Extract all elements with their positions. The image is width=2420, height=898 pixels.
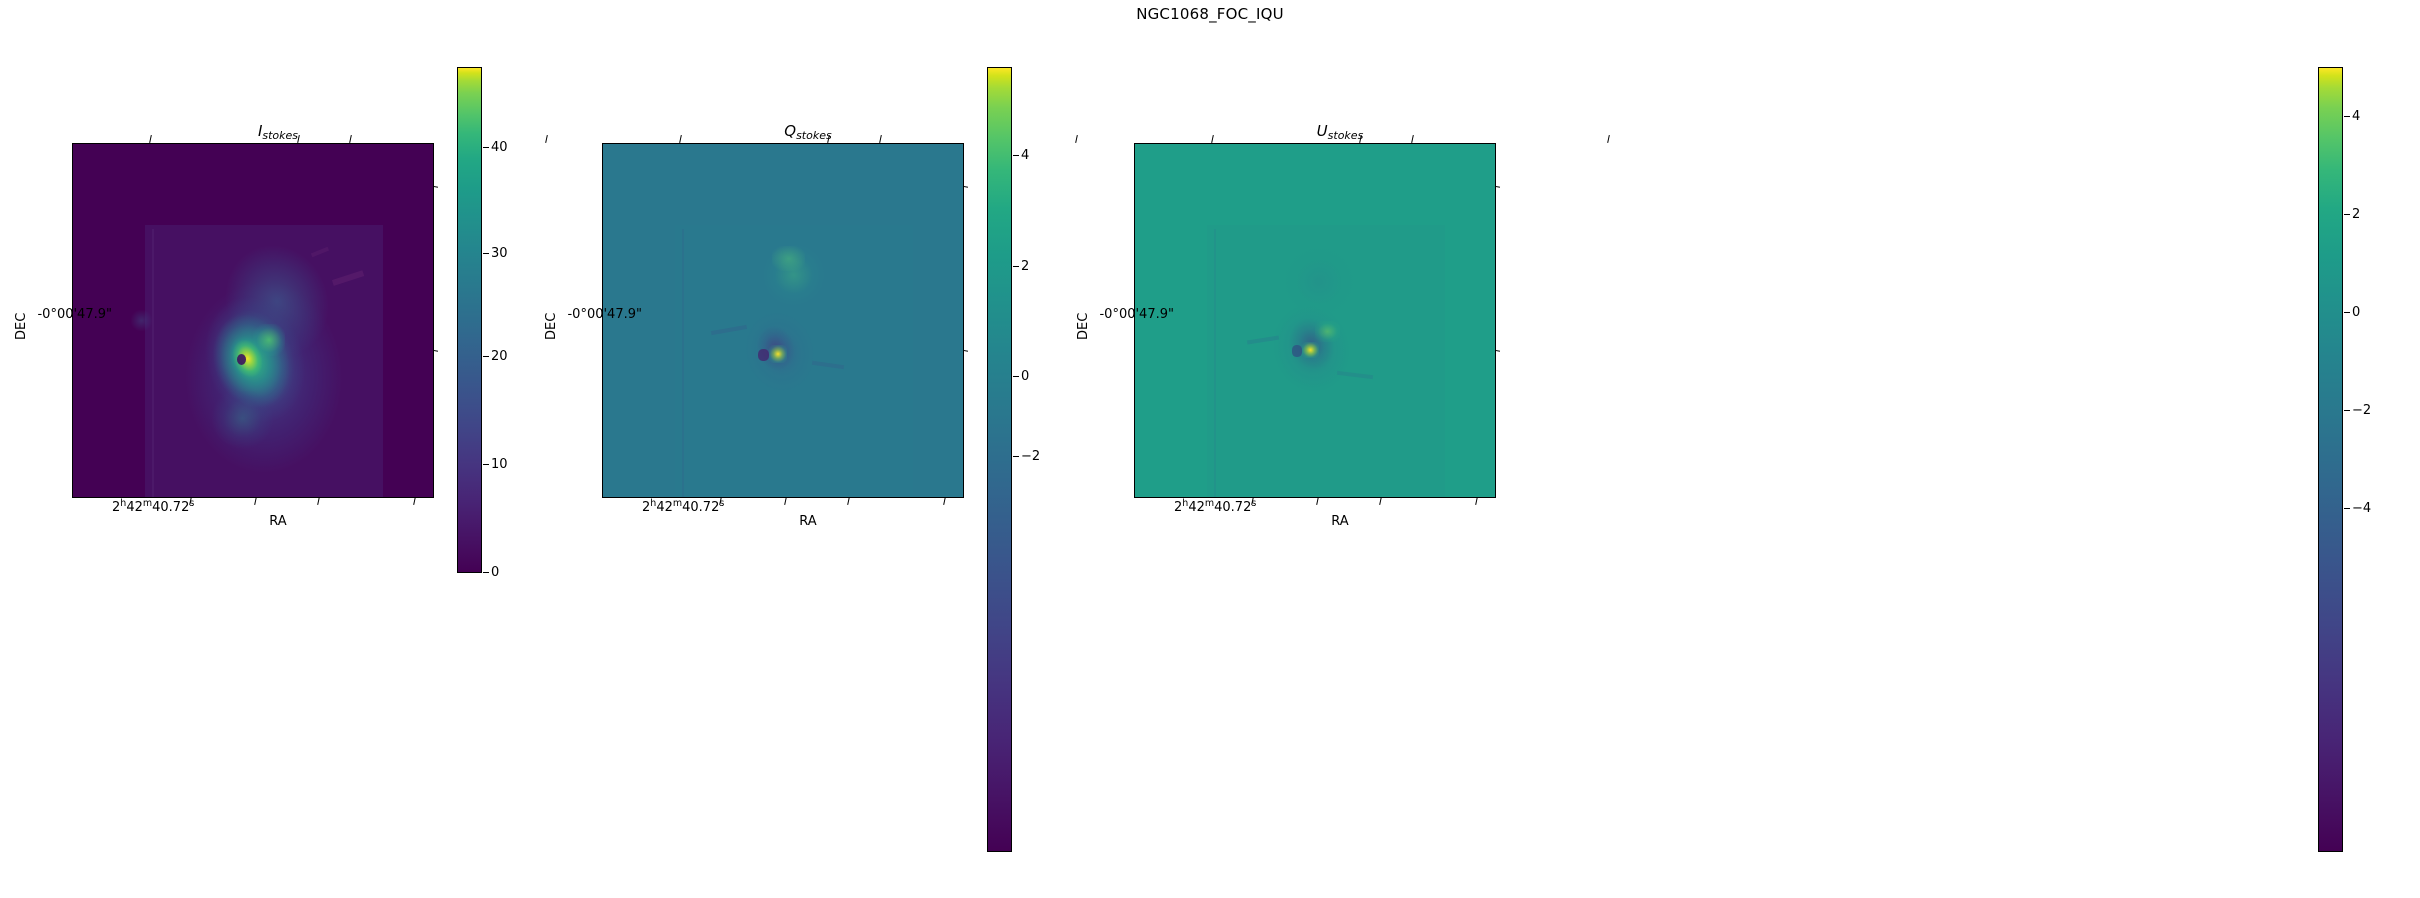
- cbar-tick: [483, 464, 489, 465]
- ytick-label-dec-u: -0°00'47.9": [1084, 307, 1174, 322]
- cbar-tick: [2344, 508, 2350, 509]
- wcs-tick-bottom: [784, 497, 787, 505]
- colorbar-i-stokes[interactable]: [457, 67, 482, 573]
- cbar-tick-label-q: −2: [1021, 449, 1040, 464]
- cbar-tick-label-q: 4: [1021, 148, 1029, 163]
- wcs-tick-bottom: [943, 497, 946, 505]
- wcs-tick-bottom: [1379, 497, 1382, 505]
- cbar-tick: [2344, 116, 2350, 117]
- wcs-tick-bottom: [254, 497, 257, 505]
- axis-label-ra-u: RA: [780, 514, 1900, 529]
- cbar-tick: [483, 356, 489, 357]
- xtick-label-ra-i: 2h42m40.72s: [112, 498, 194, 515]
- wcs-tick-bottom: [847, 497, 850, 505]
- wcs-tick-bottom: [317, 497, 320, 505]
- xtick-label-ra-u: 2h42m40.72s: [1174, 498, 1256, 515]
- cbar-tick-label-u: −4: [2352, 501, 2371, 516]
- cbar-tick: [2344, 214, 2350, 215]
- image-data-i-stokes: [73, 144, 433, 497]
- axis-label-dec-q: DEC: [544, 313, 559, 340]
- colorbar-q-stokes[interactable]: [987, 67, 1012, 852]
- wcs-tick-bottom: [413, 497, 416, 505]
- sky-image-q-stokes[interactable]: [602, 143, 964, 498]
- panel-u-stokes: Ustokes: [1062, 0, 1862, 898]
- wcs-tick-bottom: [1316, 497, 1319, 505]
- cbar-tick: [1013, 456, 1019, 457]
- cbar-tick-label-u: 2: [2352, 207, 2360, 222]
- ytick-label-dec-q: -0°00'47.9": [552, 307, 642, 322]
- cbar-tick: [2344, 410, 2350, 411]
- axis-label-dec-i: DEC: [14, 313, 29, 340]
- cbar-tick-label-i: 40: [491, 140, 508, 155]
- figure-canvas: NGC1068_FOC_IQU Istokes: [0, 0, 2420, 898]
- cbar-tick: [483, 253, 489, 254]
- cbar-tick-label-u: −2: [2352, 403, 2371, 418]
- cbar-tick-label-i: 0: [491, 565, 499, 580]
- cbar-tick: [2344, 312, 2350, 313]
- cbar-tick: [1013, 155, 1019, 156]
- panel-title-u-stokes: Ustokes: [780, 122, 1900, 142]
- cbar-tick-label-q: 2: [1021, 259, 1029, 274]
- axis-label-dec-u: DEC: [1076, 313, 1091, 340]
- cbar-tick: [1013, 266, 1019, 267]
- wcs-tick-bottom: [1475, 497, 1478, 505]
- colorbar-u-stokes[interactable]: [2318, 67, 2343, 852]
- image-data-q-stokes: [603, 144, 963, 497]
- cbar-tick: [483, 572, 489, 573]
- cbar-tick: [483, 147, 489, 148]
- sky-image-i-stokes[interactable]: [72, 143, 434, 498]
- cbar-tick-label-u: 4: [2352, 109, 2360, 124]
- cbar-tick-label-i: 10: [491, 457, 508, 472]
- xtick-label-ra-q: 2h42m40.72s: [642, 498, 724, 515]
- ytick-label-dec-i: -0°00'47.9": [22, 307, 112, 322]
- cbar-tick-label-u: 0: [2352, 305, 2360, 320]
- sky-image-u-stokes[interactable]: [1134, 143, 1496, 498]
- cbar-tick-label-i: 30: [491, 246, 508, 261]
- cbar-tick: [1013, 376, 1019, 377]
- cbar-tick-label-q: 0: [1021, 369, 1029, 384]
- cbar-tick-label-i: 20: [491, 349, 508, 364]
- image-data-u-stokes: [1135, 144, 1495, 497]
